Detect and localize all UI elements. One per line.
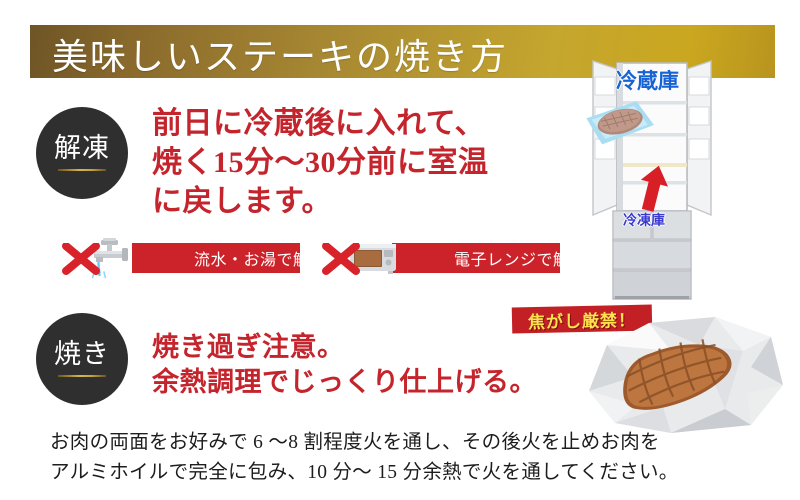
badge-gold-rule [58,169,106,171]
infographic-page: 美味しいステーキの焼き方 解凍 前日に冷蔵後に入れて、 焼く15分〜30分前に室… [0,0,800,500]
section-headline-thaw: 前日に冷蔵後に入れて、 焼く15分〜30分前に室温 に戻します。 [152,104,489,221]
refrigerator-illustration: 冷蔵庫 冷凍庫 [575,55,750,300]
warning-badge-label: 電子レンジで解凍 [392,246,586,270]
fridge-label-freezer: 冷凍庫 [623,210,665,230]
badge-gold-rule [58,375,106,377]
footnote-text: お肉の両面をお好みで 6 〜8 割程度火を通し、その後火を止めお肉を アルミホイ… [50,428,765,488]
section-headline-grill: 焼き過ぎ注意。 余熱調理でじっくり仕上げる。 [152,330,537,400]
steak-foil-graphic [575,315,790,435]
page-title: 美味しいステーキの焼き方 [52,28,508,80]
warning-badge-bar: 流水・お湯で解凍 [132,243,300,273]
x-mark-icon [62,243,102,275]
warning-badge-label: 流水・お湯で解凍 [132,246,326,270]
section-badge-label: 解凍 [54,135,110,162]
x-mark-icon [322,243,362,275]
section-badge-grill: 焼き [36,313,128,405]
fridge-label-refrigerator: 冷蔵庫 [616,65,679,95]
steak-on-foil-illustration [575,315,790,435]
section-badge-thaw: 解凍 [36,107,128,199]
section-badge-label: 焼き [54,341,110,368]
warning-badge-bar: 電子レンジで解凍 [392,243,560,273]
